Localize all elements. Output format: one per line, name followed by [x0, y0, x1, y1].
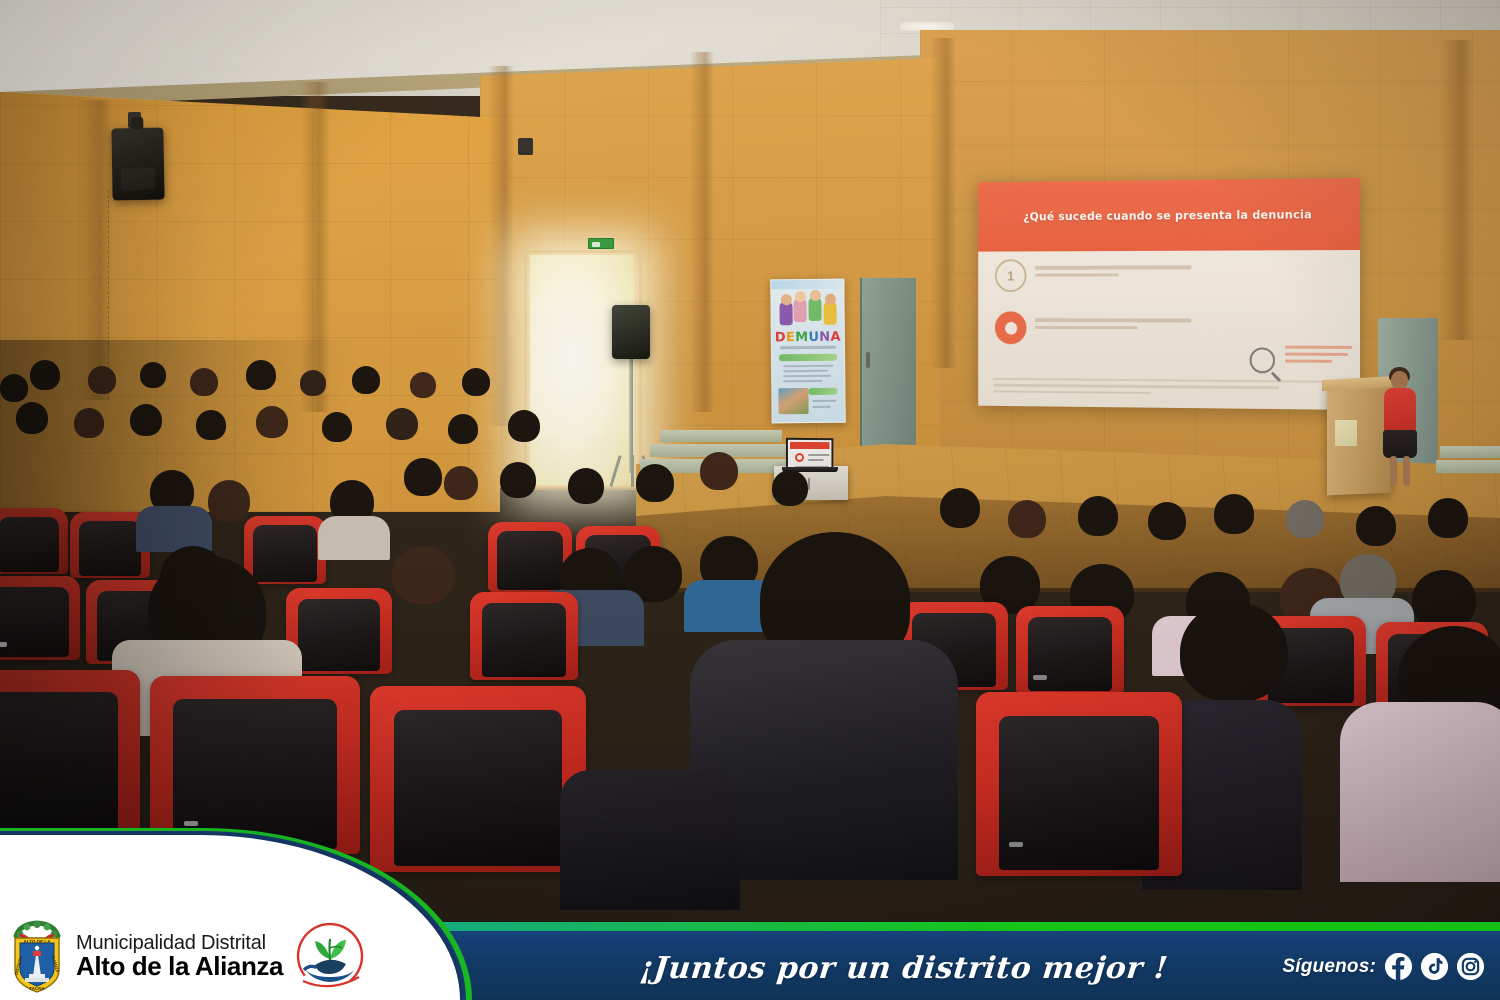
instagram-icon[interactable]	[1457, 953, 1484, 980]
audience-head	[568, 468, 604, 504]
audience-head	[1078, 496, 1118, 536]
audience-head	[190, 368, 218, 396]
audience-head	[1148, 502, 1186, 540]
audience-shoulders	[318, 516, 390, 560]
audience-head	[1214, 494, 1254, 534]
facebook-icon[interactable]	[1385, 953, 1412, 980]
audience-head	[208, 480, 250, 522]
auditorium-seat	[0, 508, 68, 574]
brand-line-1: Municipalidad Distrital	[76, 933, 283, 953]
auditorium-seat	[470, 592, 578, 680]
audience-head	[1356, 506, 1396, 546]
audience-head	[448, 414, 478, 444]
brand-line-2: Alto de la Alianza	[76, 953, 283, 980]
banner-top-strip	[771, 280, 843, 290]
slide-item-number: 1	[995, 259, 1027, 292]
audience-shoulders	[560, 770, 740, 910]
audience-head	[500, 462, 536, 498]
audience-head	[352, 366, 380, 394]
seat-number-tag	[0, 642, 7, 647]
auditorium-seat	[0, 670, 140, 840]
audience-head	[636, 464, 674, 502]
auditorium-seat	[244, 516, 326, 584]
seat-number-tag	[1009, 842, 1023, 847]
follow-us: Síguenos:	[1282, 953, 1484, 980]
audience-head	[1412, 570, 1476, 630]
tiktok-icon[interactable]	[1421, 953, 1448, 980]
seat-number-tag	[1033, 675, 1047, 680]
auditorium-seat	[976, 692, 1182, 876]
audience-head	[392, 546, 454, 604]
audience-head	[130, 404, 162, 436]
screenshot-root: ¿Qué sucede cuando se presenta la denunc…	[0, 0, 1500, 1000]
exit-sign	[588, 238, 614, 249]
brand-text: Municipalidad Distrital Alto de la Alian…	[76, 933, 283, 980]
auditorium-seat	[0, 576, 80, 660]
audience-head	[16, 402, 48, 434]
eco-plant-hand-logo	[293, 919, 367, 993]
audience-head	[940, 488, 980, 528]
audience-head	[700, 452, 738, 490]
audience-head	[386, 408, 418, 440]
svg-text:TACNA: TACNA	[29, 986, 45, 991]
wall-pillar	[930, 38, 956, 368]
audience-head	[256, 406, 288, 438]
audience-head	[196, 410, 226, 440]
audience-head	[300, 370, 326, 396]
wall-pillar	[1440, 40, 1474, 340]
coat-of-arms: ALTO DE LA DISTRITO ALIANZA TACNA	[8, 918, 66, 994]
audience-head	[462, 368, 490, 396]
slide-item-text	[1035, 311, 1192, 333]
seat-number-tag	[184, 821, 198, 826]
brand-lockup: ALTO DE LA DISTRITO ALIANZA TACNA Munici…	[8, 918, 367, 994]
audience-head	[1428, 498, 1468, 538]
audience-head	[322, 412, 352, 442]
audience-head	[508, 410, 540, 442]
audience-head	[410, 372, 436, 398]
audience-head	[1180, 602, 1288, 702]
slide-header: ¿Qué sucede cuando se presenta la denunc…	[978, 178, 1360, 252]
audience-head	[140, 362, 166, 388]
audience-head	[444, 466, 478, 500]
follow-label: Síguenos:	[1282, 956, 1376, 978]
slide-item-text	[1035, 259, 1192, 281]
audience-head	[1008, 500, 1046, 538]
audience-head	[74, 408, 104, 438]
auditorium-seat	[1016, 606, 1124, 694]
wall-mount-bracket	[518, 138, 533, 155]
audience-head	[30, 360, 60, 390]
tagline: ¡Juntos por un distrito mejor !	[638, 951, 1170, 986]
audience-shoulders	[1340, 702, 1500, 882]
wall-speaker-icon	[111, 128, 164, 201]
audience-head	[1286, 500, 1324, 538]
slide-item: 1	[995, 259, 1203, 293]
audience	[0, 340, 1500, 900]
audience-shoulders	[136, 506, 212, 552]
audience-head	[246, 360, 276, 390]
auditorium-seat	[370, 686, 586, 872]
audience-head	[404, 458, 442, 496]
audience-head	[0, 374, 28, 402]
audience-head	[772, 470, 808, 506]
svg-text:ALTO DE LA: ALTO DE LA	[23, 939, 51, 944]
banner-illustration	[777, 292, 839, 327]
footer-bar: ALTO DE LA DISTRITO ALIANZA TACNA Munici…	[0, 922, 1500, 1000]
slide-title: ¿Qué sucede cuando se presenta la denunc…	[1023, 207, 1312, 223]
audience-head	[88, 366, 116, 394]
